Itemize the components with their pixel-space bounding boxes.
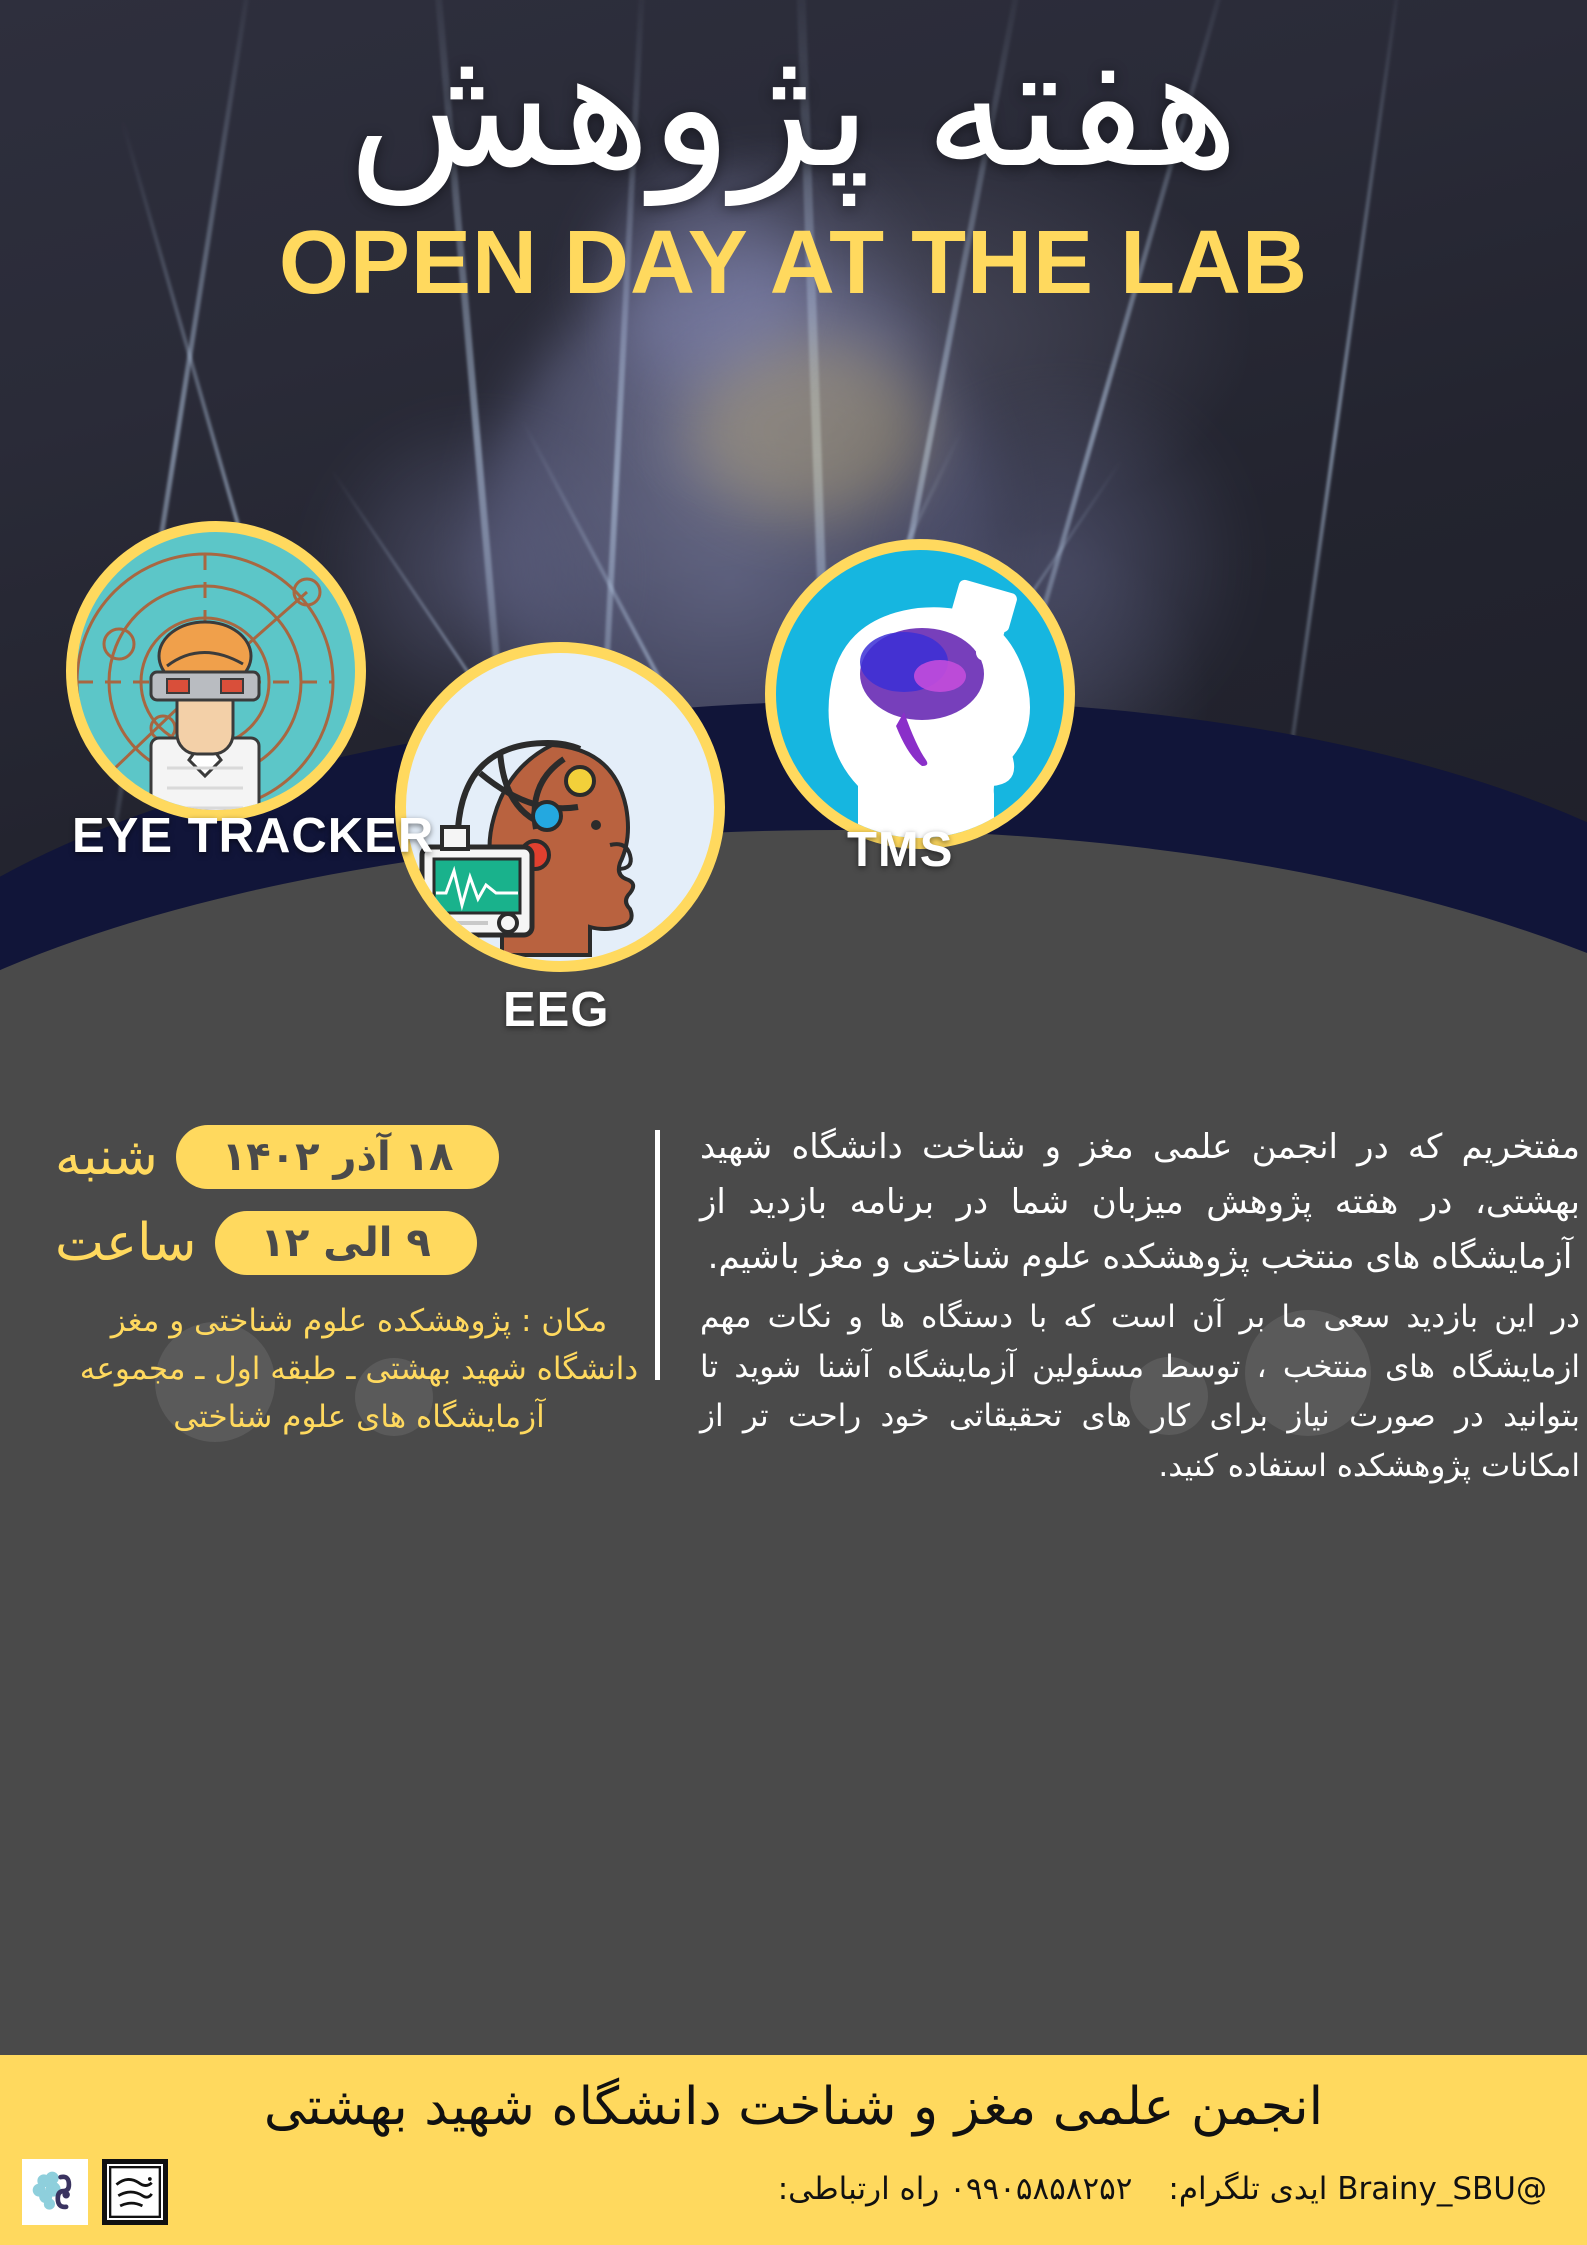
page-title-fa: هفته پژوهش <box>0 22 1587 193</box>
eeg-circle[interactable] <box>395 642 725 972</box>
footer-logos <box>22 2159 168 2225</box>
description-paragraph-2: در این بازدید سعی ما بر آن است که با دست… <box>700 1293 1580 1491</box>
shahid-beheshti-university-logo <box>102 2159 168 2225</box>
phone-block: ۰۹۹۰۵۸۵۸۲۵۲ راه ارتباطی: <box>778 2171 1133 2207</box>
vertical-divider <box>655 1130 660 1380</box>
tms-circle[interactable] <box>765 539 1075 849</box>
description-block: مفتخریم که در انجمن علمی مغز و شناخت دان… <box>700 1120 1580 1492</box>
day-label: شنبه <box>55 1131 158 1183</box>
eeg-icon <box>395 653 714 972</box>
brain-association-logo <box>22 2159 88 2225</box>
organization-title: انجمن علمی مغز و شناخت دانشگاه شهید بهشت… <box>0 2081 1587 2133</box>
brain-icon <box>29 2166 81 2218</box>
poster-root: هفته پژوهش OPEN DAY AT THE LAB <box>0 0 1587 2245</box>
date-row: ۱۸ آذر ۱۴۰۲ شنبه <box>55 1125 655 1189</box>
phone-label: راه ارتباطی: <box>778 2171 940 2207</box>
tms-label: TMS <box>847 822 953 878</box>
schedule-block: ۱۸ آذر ۱۴۰۲ شنبه ۹ الی ۱۲ ساعت مکان : پژ… <box>55 1125 655 1441</box>
eye-tracker-label: EYE TRACKER <box>72 808 434 864</box>
telegram-value[interactable]: @Brainy_SBU <box>1337 2171 1547 2207</box>
eye-tracker-circle[interactable] <box>66 521 366 821</box>
time-row: ۹ الی ۱۲ ساعت <box>55 1211 655 1275</box>
footer-bar: انجمن علمی مغز و شناخت دانشگاه شهید بهشت… <box>0 2055 1587 2245</box>
location-text: مکان : پژوهشکده علوم شناختی و مغز دانشگا… <box>55 1297 655 1441</box>
date-pill: ۱۸ آذر ۱۴۰۲ <box>176 1125 500 1189</box>
eeg-label: EEG <box>503 982 609 1038</box>
sbu-crest-icon <box>109 2166 161 2218</box>
telegram-label: ایدی تلگرام: <box>1168 2171 1327 2207</box>
phone-value: ۰۹۹۰۵۸۵۸۲۵۲ <box>949 2171 1132 2207</box>
telegram-block[interactable]: @Brainy_SBU ایدی تلگرام: <box>1168 2171 1547 2207</box>
time-pill: ۹ الی ۱۲ <box>215 1211 477 1275</box>
description-paragraph-1: مفتخریم که در انجمن علمی مغز و شناخت دان… <box>700 1120 1580 1285</box>
time-label: ساعت <box>55 1217 197 1269</box>
contact-info: @Brainy_SBU ایدی تلگرام: ۰۹۹۰۵۸۵۸۲۵۲ راه… <box>778 2171 1547 2207</box>
page-subtitle-en: OPEN DAY AT THE LAB <box>0 218 1587 308</box>
